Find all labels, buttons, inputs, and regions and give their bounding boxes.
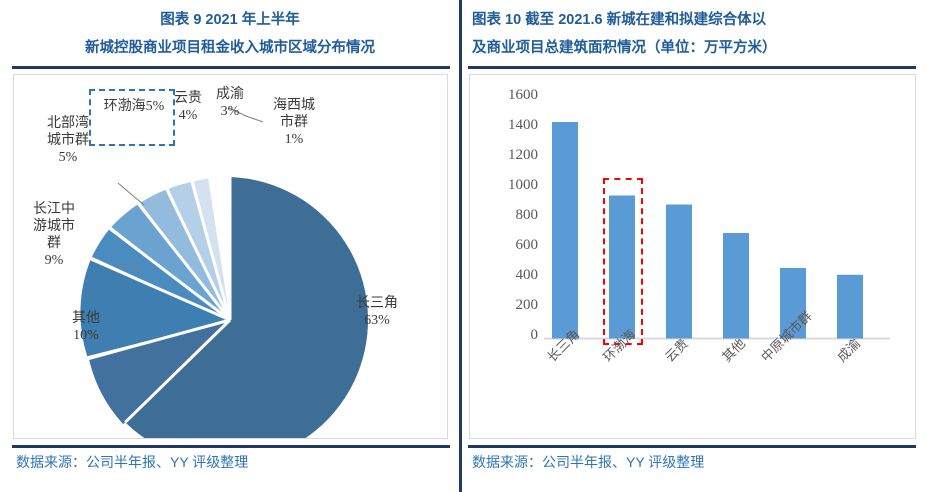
left-figure-panel: 图表 9 2021 年上半年 新城控股商业项目租金收入城市区域分布情况 xyxy=(0,0,460,492)
right-title-line-2: 及商业项目总建筑面积情况（单位：万平方米） xyxy=(460,34,926,62)
huanbohai-bar-highlight-box xyxy=(603,178,643,345)
pie-label-qita: 其他 10% xyxy=(50,310,122,344)
right-footer-rule xyxy=(468,445,916,448)
bar-chart-frame: 1600 1400 1200 1000 800 600 400 200 0 xyxy=(469,74,916,439)
bar-qita xyxy=(723,233,749,339)
pie-label-changsanjiao: 长三角 63% xyxy=(334,295,420,329)
left-title-block: 图表 9 2021 年上半年 新城控股商业项目租金收入城市区域分布情况 xyxy=(0,0,460,66)
left-title-rule xyxy=(12,66,450,69)
right-figure-panel: 图表 10 截至 2021.6 新城在建和拟建综合体以 及商业项目总建筑面积情况… xyxy=(460,0,926,492)
huanbohai-highlight-box xyxy=(89,89,175,146)
bar-chengyu xyxy=(837,275,863,339)
bar-chart-svg xyxy=(470,75,915,438)
figure-pair-page: 图表 9 2021 年上半年 新城控股商业项目租金收入城市区域分布情况 xyxy=(0,0,926,492)
right-title-rule xyxy=(468,66,916,69)
bar-series xyxy=(552,122,863,339)
left-footer-rule xyxy=(12,445,450,448)
left-title-line-2: 新城控股商业项目租金收入城市区域分布情况 xyxy=(0,34,460,62)
left-source-note: 数据来源：公司半年报、YY 评级整理 xyxy=(16,452,248,472)
pie-label-haixi: 海西城 市群 1% xyxy=(264,97,324,148)
bar-yungui xyxy=(666,205,692,339)
right-title-block: 图表 10 截至 2021.6 新城在建和拟建综合体以 及商业项目总建筑面积情况… xyxy=(460,0,926,66)
pie-label-chengyu: 成渝 3% xyxy=(208,86,252,120)
left-title-line-1: 图表 9 2021 年上半年 xyxy=(0,0,460,34)
pie-slices xyxy=(80,177,368,438)
pie-label-changjiangzhongyou: 长江中 游城市 群 9% xyxy=(20,201,88,269)
pie-chart-frame: 长三角 63% 其他 10% 长江中 游城市 群 9% 北部湾 城市群 5% 环… xyxy=(13,74,448,439)
bar-changsanjiao xyxy=(552,122,578,339)
right-title-line-1: 图表 10 截至 2021.6 新城在建和拟建综合体以 xyxy=(460,0,926,34)
right-source-note: 数据来源：公司半年报、YY 评级整理 xyxy=(472,452,704,472)
